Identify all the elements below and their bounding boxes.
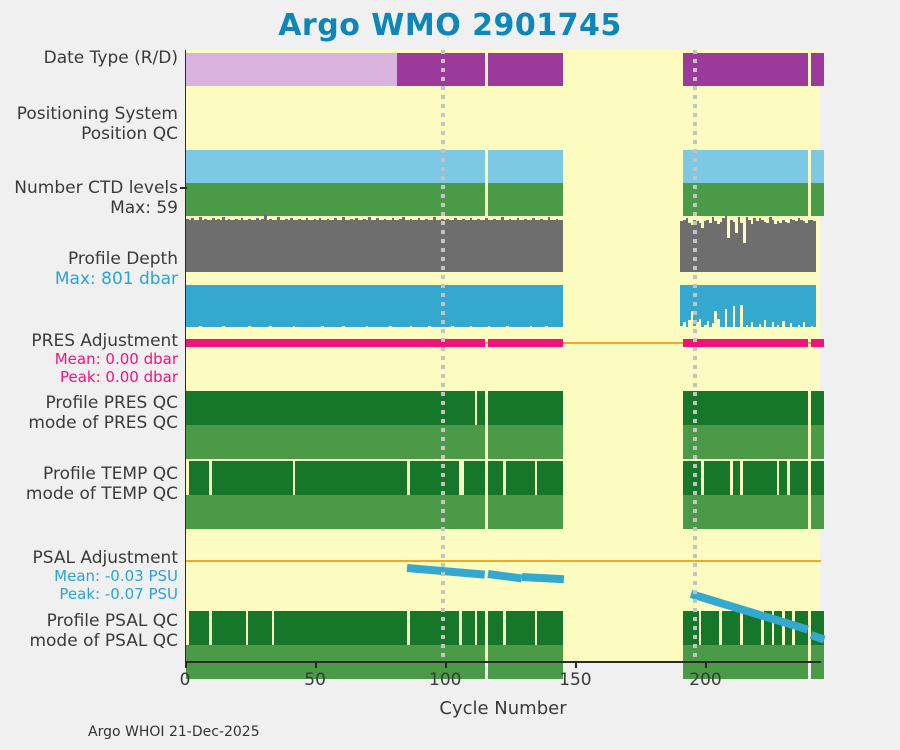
profile-temp-qc-segment bbox=[410, 461, 459, 495]
profile-temp-qc-segment bbox=[743, 461, 777, 495]
profile-psal-qc-segment bbox=[522, 611, 535, 645]
profile-pres-qc-segment bbox=[683, 391, 808, 425]
profile-pres-qc-segment bbox=[186, 391, 267, 425]
mode-temp-qc-segment bbox=[522, 495, 564, 529]
profile-temp-qc-segment bbox=[506, 461, 522, 495]
positioning-system-segment bbox=[683, 150, 808, 183]
profile-psal-qc-segment bbox=[477, 611, 485, 645]
psal-zero-reference-line bbox=[186, 560, 821, 562]
x-axis-tick bbox=[705, 661, 707, 668]
row-label-positioning: Positioning System Position QC bbox=[17, 104, 178, 144]
profile-pres-qc-segment bbox=[477, 391, 485, 425]
x-axis-line bbox=[185, 661, 821, 663]
pres-adjustment-line bbox=[811, 339, 824, 347]
row-label-psal-adjustment: PSAL Adjustment Mean: -0.03 PSU Peak: -0… bbox=[33, 548, 178, 603]
footer-credit: Argo WHOI 21-Dec-2025 bbox=[88, 724, 260, 740]
x-axis-tick bbox=[315, 661, 317, 668]
pres-adjustment-line bbox=[683, 339, 808, 347]
profile-psal-qc-segment bbox=[488, 611, 504, 645]
cycle-marker-line bbox=[441, 50, 445, 662]
profile-psal-qc-segment bbox=[722, 611, 740, 645]
psal-adjustment-line bbox=[521, 573, 563, 583]
row-label-text: PSAL Adjustment bbox=[33, 548, 178, 568]
profile-psal-qc-segment bbox=[189, 611, 210, 645]
x-axis-tick-label: 0 bbox=[180, 670, 191, 690]
profile-psal-qc-segment bbox=[462, 611, 475, 645]
row-label-ctd-levels: Number CTD levels Max: 59 bbox=[14, 178, 178, 218]
row-label-psal-qc: Profile PSAL QC mode of PSAL QC bbox=[29, 611, 178, 651]
row-label-temp-qc: Profile TEMP QC mode of TEMP QC bbox=[26, 464, 178, 504]
profile-pres-qc-segment bbox=[811, 391, 824, 425]
profile-psal-qc-segment bbox=[212, 611, 246, 645]
row-sublabel-text: Position QC bbox=[17, 124, 178, 144]
x-axis-tick-label: 200 bbox=[689, 670, 721, 690]
profile-psal-qc-segment bbox=[537, 611, 563, 645]
profile-psal-qc-segment bbox=[701, 611, 719, 645]
pres-adjustment-line bbox=[522, 339, 564, 347]
row-label-text: Profile PSAL QC bbox=[29, 611, 178, 631]
profile-temp-qc-segment bbox=[683, 461, 701, 495]
row-sublabel-peak: Peak: 0.00 dbar bbox=[31, 369, 178, 387]
mode-temp-qc-segment bbox=[683, 495, 808, 529]
row-label-text: Positioning System bbox=[17, 104, 178, 124]
cycle-marker-line bbox=[693, 50, 697, 662]
psal-adjustment-line bbox=[487, 570, 522, 582]
x-axis-tick bbox=[575, 661, 577, 668]
x-axis-tick-label: 50 bbox=[304, 670, 326, 690]
row-sublabel-mean: Mean: -0.03 PSU bbox=[33, 568, 178, 586]
profile-temp-qc-segment bbox=[488, 461, 504, 495]
date-type-segment bbox=[186, 53, 397, 86]
row-sublabel-text: Max: 59 bbox=[14, 198, 178, 218]
x-axis-tick-label: 150 bbox=[559, 670, 591, 690]
profile-temp-qc-segment bbox=[811, 461, 824, 495]
profile-temp-qc-segment bbox=[704, 461, 730, 495]
row-sublabel-text: Max: 801 dbar bbox=[55, 269, 178, 289]
profile-psal-qc-segment bbox=[248, 611, 271, 645]
profile-pres-qc-segment bbox=[488, 391, 522, 425]
page-title: Argo WMO 2901745 bbox=[0, 8, 900, 43]
plot-area bbox=[185, 50, 820, 662]
row-label-text: Profile PRES QC bbox=[28, 393, 178, 413]
mode-temp-qc-segment bbox=[488, 495, 522, 529]
ctd-levels-bar bbox=[561, 220, 564, 272]
row-label-text: Profile Depth bbox=[55, 249, 178, 269]
pres-adjustment-line bbox=[488, 339, 522, 347]
mode-pres-qc-segment bbox=[811, 425, 824, 459]
date-type-segment bbox=[488, 53, 522, 86]
row-label-text: PRES Adjustment bbox=[31, 331, 178, 351]
date-type-segment bbox=[683, 53, 808, 86]
row-sublabel-text: mode of PSAL QC bbox=[29, 631, 178, 651]
row-label-pres-adjustment: PRES Adjustment Mean: 0.00 dbar Peak: 0.… bbox=[31, 331, 178, 386]
profile-pres-qc-segment bbox=[522, 391, 564, 425]
mode-temp-qc-segment bbox=[811, 495, 824, 529]
row-sublabel-peak: Peak: -0.07 PSU bbox=[33, 586, 178, 604]
positioning-system-segment bbox=[811, 150, 824, 183]
row-label-profile-depth: Profile Depth Max: 801 dbar bbox=[55, 249, 178, 289]
position-qc-segment bbox=[683, 183, 808, 216]
ctd-axis-tick bbox=[180, 187, 187, 189]
row-label-text: Number CTD levels bbox=[14, 178, 178, 198]
profile-psal-qc-segment bbox=[274, 611, 407, 645]
positioning-system-segment bbox=[488, 150, 522, 183]
profile-psal-qc-segment bbox=[410, 611, 459, 645]
x-axis-tick bbox=[445, 661, 447, 668]
position-qc-segment bbox=[811, 183, 824, 216]
profile-temp-qc-segment bbox=[522, 461, 535, 495]
psal-adjustment-line bbox=[407, 564, 486, 579]
profile-temp-qc-segment bbox=[295, 461, 407, 495]
row-sublabel-text: mode of TEMP QC bbox=[26, 484, 178, 504]
mode-pres-qc-segment bbox=[683, 425, 808, 459]
profile-temp-qc-segment bbox=[537, 461, 563, 495]
profile-temp-qc-segment bbox=[733, 461, 741, 495]
row-label-pres-qc: Profile PRES QC mode of PRES QC bbox=[28, 393, 178, 433]
positioning-system-segment bbox=[522, 150, 564, 183]
profile-depth-bar bbox=[561, 285, 564, 327]
row-label-text: Profile TEMP QC bbox=[26, 464, 178, 484]
profile-depth-bar bbox=[813, 285, 816, 327]
position-qc-segment bbox=[522, 183, 564, 216]
ctd-levels-bar bbox=[813, 221, 816, 272]
date-type-segment bbox=[522, 53, 564, 86]
row-sublabel-text: mode of PRES QC bbox=[28, 413, 178, 433]
x-axis-tick bbox=[185, 661, 187, 668]
row-label-text: Date Type (R/D) bbox=[44, 48, 178, 68]
profile-temp-qc-segment bbox=[779, 461, 787, 495]
mode-pres-qc-segment bbox=[488, 425, 522, 459]
mode-pres-qc-segment bbox=[522, 425, 564, 459]
x-axis-tick-label: 100 bbox=[429, 670, 461, 690]
date-type-segment bbox=[811, 53, 824, 86]
row-sublabel-mean: Mean: 0.00 dbar bbox=[31, 351, 178, 369]
profile-temp-qc-segment bbox=[464, 461, 485, 495]
profile-temp-qc-segment bbox=[189, 461, 210, 495]
x-axis-label: Cycle Number bbox=[185, 698, 821, 719]
row-label-date-type: Date Type (R/D) bbox=[44, 48, 178, 68]
position-qc-segment bbox=[488, 183, 522, 216]
profile-temp-qc-segment bbox=[212, 461, 293, 495]
profile-temp-qc-segment bbox=[790, 461, 808, 495]
profile-psal-qc-segment bbox=[506, 611, 522, 645]
